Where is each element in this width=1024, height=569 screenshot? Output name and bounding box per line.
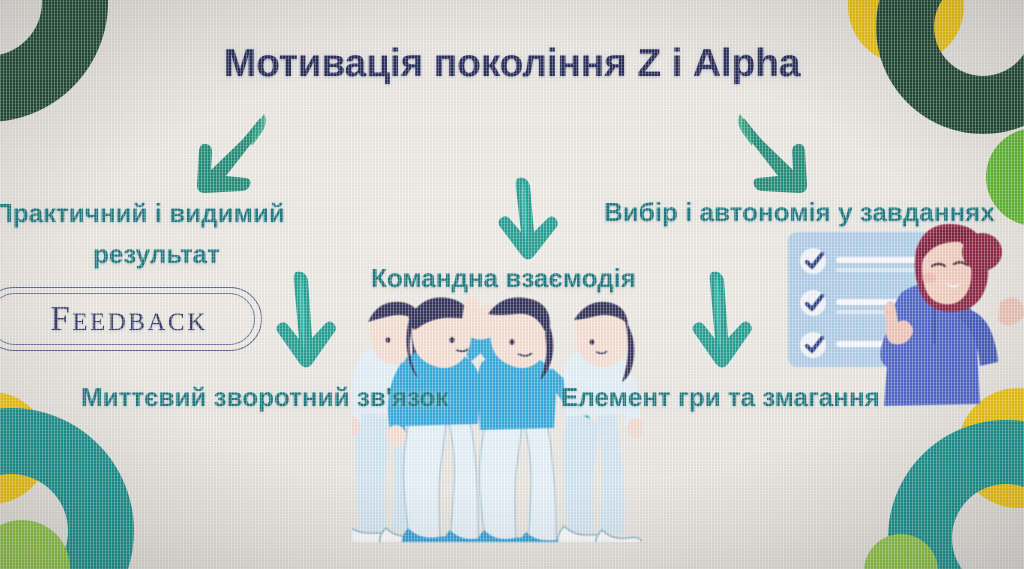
label-team-interaction: Командна взаємодія — [371, 262, 636, 295]
feedback-stamp: Feedback — [0, 287, 262, 351]
label-instant-feedback: Миттєвий зворотний зв'язок — [81, 381, 448, 414]
page-title: Мотивація покоління Z і Alpha — [0, 42, 1024, 86]
arrow-to-instant-feedback-icon — [272, 272, 334, 370]
feedback-stamp-label: Feedback — [0, 287, 262, 351]
label-game-element: Елемент гри та змагання — [561, 381, 880, 414]
team-illustration — [352, 296, 642, 542]
person-right-outline — [558, 302, 642, 542]
label-practical-result-line2: результат — [93, 238, 220, 271]
arrow-to-choice-autonomy-icon — [722, 112, 818, 198]
arrow-to-team-interaction-icon — [492, 178, 558, 262]
label-practical-result-line1: Практичний і видимий — [0, 197, 285, 230]
arrow-to-game-element-icon — [688, 272, 750, 370]
label-choice-autonomy: Вибір і автономія у завданнях — [604, 196, 995, 229]
team-high-five-figures — [352, 296, 642, 542]
slide-photo: Feedback — [0, 0, 1024, 569]
arrow-to-practical-result-icon — [186, 112, 282, 198]
checklist-illustration — [782, 228, 1024, 403]
